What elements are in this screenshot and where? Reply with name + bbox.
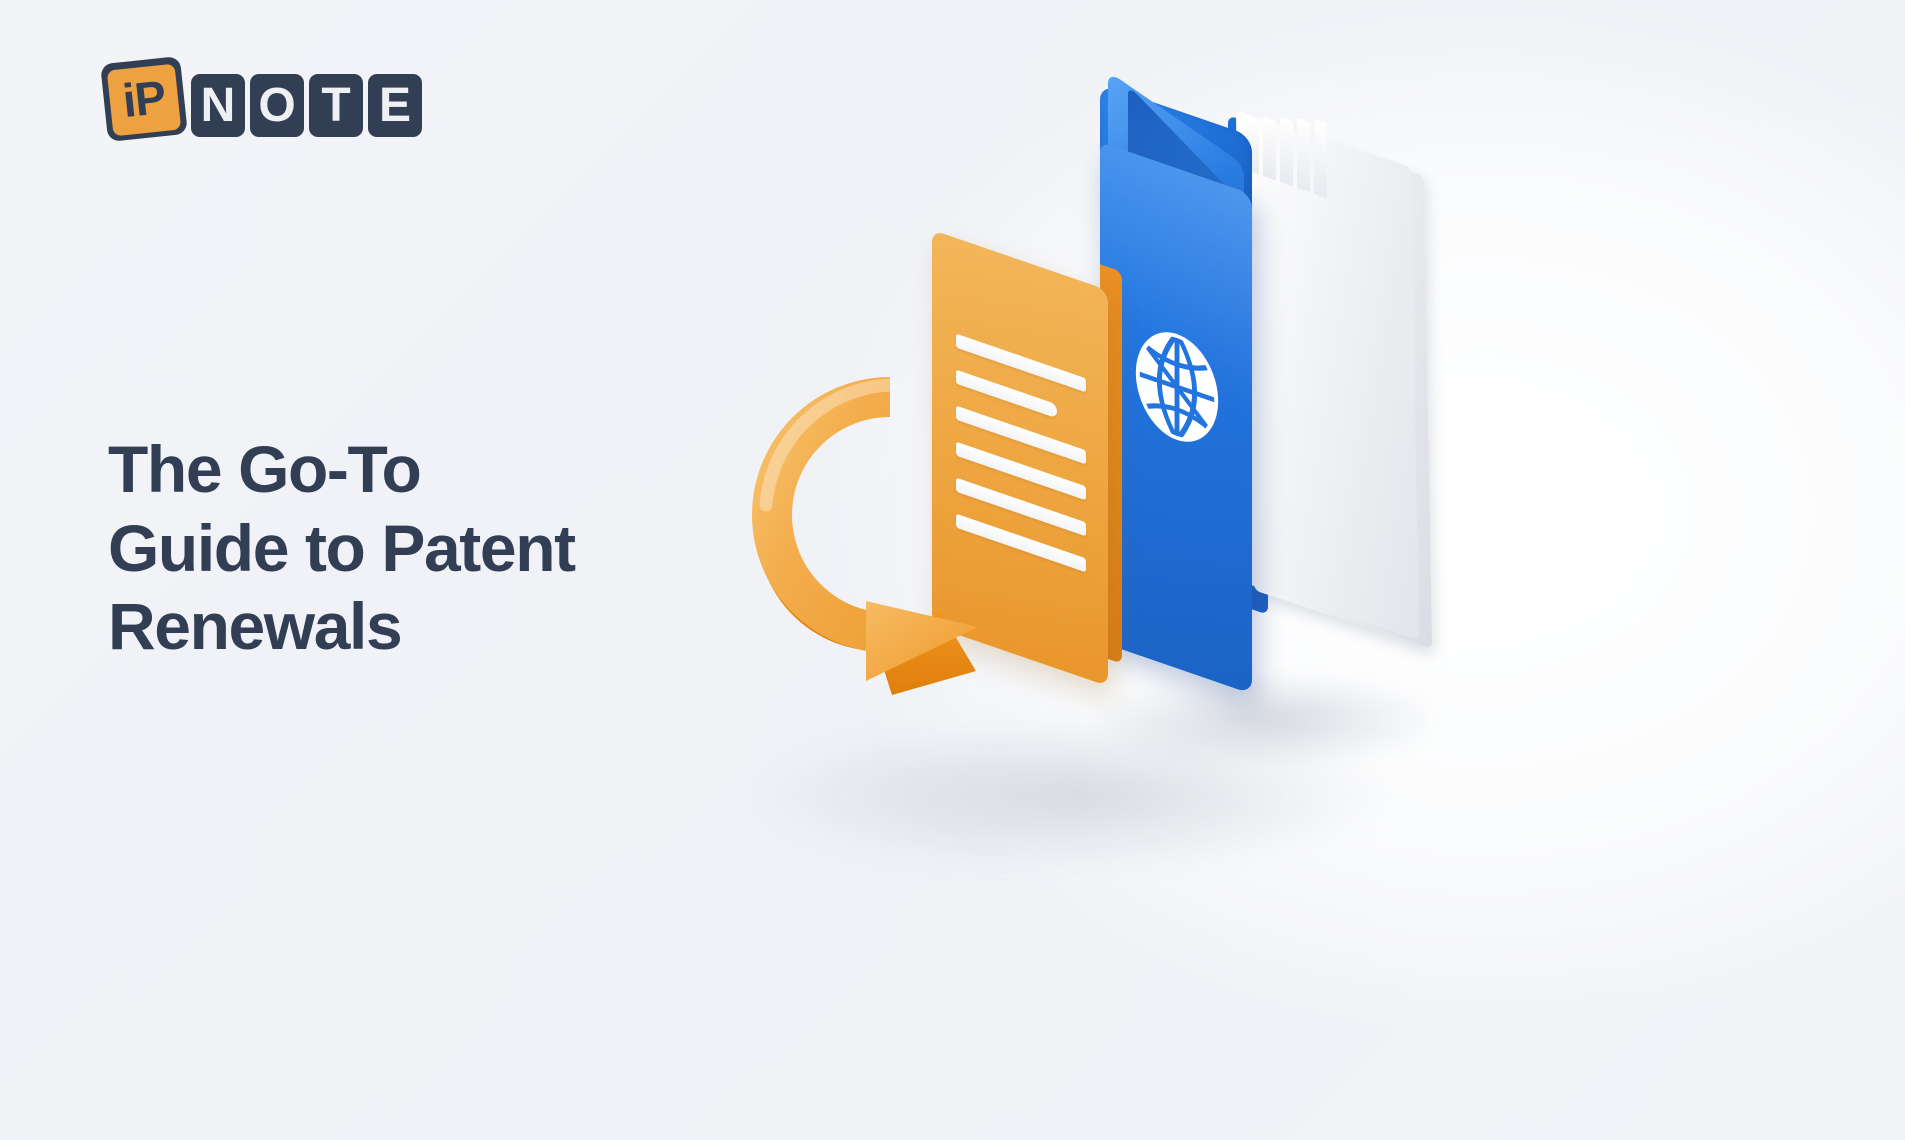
headline-line-3: Renewals: [108, 587, 748, 666]
hero-illustration: [700, 90, 1540, 910]
circular-renewal-arrow-icon: [740, 365, 1040, 695]
logo-ip-badge: iP: [104, 60, 184, 138]
logo-wordmark: N O T E: [191, 74, 422, 138]
page-title: The Go-To Guide to Patent Renewals: [108, 430, 748, 666]
banner: iP N O T E The Go-To Guide to Patent Ren…: [0, 0, 1905, 1140]
ipnote-logo[interactable]: iP N O T E: [104, 58, 422, 138]
logo-letter-e: E: [368, 74, 422, 137]
headline-line-2: Guide to Patent: [108, 509, 748, 588]
logo-letter-o: O: [250, 74, 304, 137]
logo-letter-t: T: [309, 74, 363, 137]
logo-letter-n: N: [191, 74, 245, 137]
logo-badge-label: iP: [100, 56, 188, 142]
headline-line-1: The Go-To: [108, 430, 748, 509]
patent-book-icon: [1100, 110, 1460, 690]
